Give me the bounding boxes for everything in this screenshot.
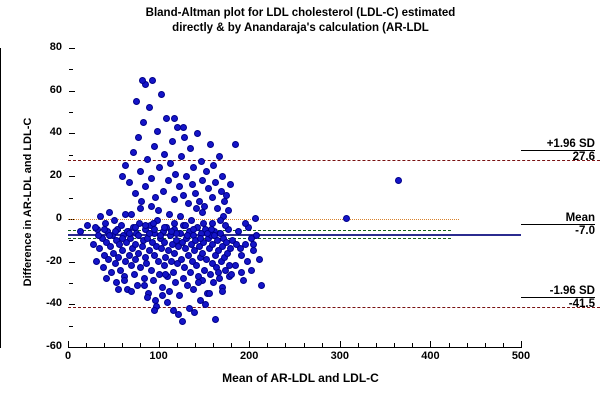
scatter-point bbox=[156, 164, 163, 171]
y-axis-title: Difference in AR-LDL and LDL-C bbox=[22, 82, 34, 322]
scatter-point bbox=[212, 316, 219, 323]
x-tick-major bbox=[430, 341, 431, 347]
x-tick-minor bbox=[322, 343, 323, 347]
scatter-point bbox=[178, 256, 185, 263]
x-tick-minor bbox=[86, 343, 87, 347]
scatter-point bbox=[176, 292, 183, 299]
scatter-point bbox=[121, 277, 128, 284]
y-axis-line bbox=[0, 48, 1, 348]
scatter-point bbox=[130, 149, 137, 156]
scatter-point bbox=[180, 124, 187, 131]
scatter-point bbox=[155, 207, 162, 214]
x-tick-minor bbox=[195, 343, 196, 347]
x-tick-label: 100 bbox=[139, 350, 179, 362]
scatter-point bbox=[106, 209, 113, 216]
scatter-point bbox=[181, 134, 188, 141]
scatter-point bbox=[128, 262, 135, 269]
scatter-point bbox=[161, 239, 168, 246]
x-tick-minor bbox=[122, 343, 123, 347]
scatter-point bbox=[144, 294, 151, 301]
scatter-point bbox=[244, 258, 251, 265]
scatter-point bbox=[248, 267, 255, 274]
y-tick-major bbox=[69, 347, 75, 348]
x-tick-minor bbox=[104, 343, 105, 347]
scatter-point bbox=[119, 235, 126, 242]
scatter-point bbox=[209, 194, 216, 201]
scatter-point bbox=[207, 271, 214, 278]
scatter-point bbox=[144, 156, 151, 163]
scatter-point bbox=[118, 222, 125, 229]
scatter-point bbox=[164, 299, 171, 306]
x-axis-title: Mean of AR-LDL and LDL-C bbox=[0, 371, 601, 385]
scatter-point bbox=[189, 181, 196, 188]
y-tick-label: 20 bbox=[28, 169, 62, 181]
scatter-point bbox=[149, 77, 156, 84]
x-tick-major bbox=[159, 341, 160, 347]
scatter-point bbox=[168, 228, 175, 235]
scatter-point bbox=[165, 177, 172, 184]
scatter-point bbox=[219, 288, 226, 295]
x-tick-major bbox=[68, 341, 69, 347]
x-tick-label: 300 bbox=[320, 350, 360, 362]
scatter-point bbox=[215, 269, 222, 276]
scatter-point bbox=[216, 275, 223, 282]
annotation-label: -1.96 SD bbox=[550, 285, 595, 297]
scatter-point bbox=[159, 284, 166, 291]
y-tick-minor bbox=[69, 326, 73, 327]
scatter-point bbox=[137, 205, 144, 212]
scatter-point bbox=[242, 220, 249, 227]
x-tick-minor bbox=[177, 343, 178, 347]
scatter-point bbox=[84, 222, 91, 229]
scatter-point bbox=[228, 271, 235, 278]
scatter-point bbox=[232, 262, 239, 269]
scatter-point bbox=[171, 220, 178, 227]
scatter-point bbox=[135, 134, 142, 141]
scatter-point bbox=[171, 250, 178, 257]
scatter-point bbox=[192, 190, 199, 197]
scatter-point bbox=[160, 188, 167, 195]
x-tick-minor bbox=[376, 343, 377, 347]
y-tick-major bbox=[69, 133, 75, 134]
scatter-point bbox=[131, 271, 138, 278]
scatter-point bbox=[240, 277, 247, 284]
scatter-point bbox=[171, 196, 178, 203]
scatter-point bbox=[146, 104, 153, 111]
annotation-label: +1.96 SD bbox=[547, 138, 595, 150]
scatter-point bbox=[180, 192, 187, 199]
scatter-point bbox=[343, 215, 350, 222]
annotation-1-96-sd: +1.96 SD27.6 bbox=[521, 138, 595, 163]
scatter-point bbox=[194, 130, 201, 137]
scatter-point bbox=[103, 275, 110, 282]
scatter-point bbox=[148, 203, 155, 210]
scatter-point bbox=[395, 177, 402, 184]
x-tick-minor bbox=[467, 343, 468, 347]
scatter-point bbox=[203, 168, 210, 175]
x-tick-minor bbox=[304, 343, 305, 347]
scatter-point bbox=[161, 151, 168, 158]
scatter-point bbox=[126, 179, 133, 186]
scatter-point bbox=[166, 211, 173, 218]
y-tick-minor bbox=[69, 240, 73, 241]
scatter-point bbox=[112, 260, 119, 267]
scatter-point bbox=[150, 277, 157, 284]
y-tick-label: 60 bbox=[28, 84, 62, 96]
scatter-point bbox=[233, 241, 240, 248]
scatter-point bbox=[205, 185, 212, 192]
y-tick-minor bbox=[69, 155, 73, 156]
scatter-point bbox=[227, 181, 234, 188]
annotation-value: -7.0 bbox=[521, 224, 595, 237]
x-tick-label: 200 bbox=[229, 350, 269, 362]
scatter-point bbox=[187, 269, 194, 276]
scatter-point bbox=[142, 183, 149, 190]
scatter-point bbox=[96, 245, 103, 252]
chart-title-line-1: Bland-Altman plot for LDL cholesterol (L… bbox=[0, 6, 601, 21]
y-tick-minor bbox=[69, 198, 73, 199]
scatter-point bbox=[190, 226, 197, 233]
scatter-point bbox=[238, 252, 245, 259]
y-tick-minor bbox=[69, 69, 73, 70]
scatter-point bbox=[122, 162, 129, 169]
scatter-point bbox=[183, 173, 190, 180]
scatter-point bbox=[158, 245, 165, 252]
scatter-point bbox=[199, 177, 206, 184]
scatter-point bbox=[148, 267, 155, 274]
x-tick-minor bbox=[285, 343, 286, 347]
scatter-point bbox=[186, 305, 193, 312]
annotation-value: 27.6 bbox=[521, 150, 595, 163]
scatter-point bbox=[238, 269, 245, 276]
chart-canvas: Bland-Altman plot for LDL cholesterol (L… bbox=[0, 0, 601, 403]
x-tick-minor bbox=[412, 343, 413, 347]
scatter-point bbox=[193, 262, 200, 269]
scatter-point bbox=[119, 173, 126, 180]
scatter-point bbox=[169, 138, 176, 145]
scatter-point bbox=[171, 115, 178, 122]
y-tick-major bbox=[69, 91, 75, 92]
scatter-point bbox=[172, 171, 179, 178]
annotation-mean: Mean-7.0 bbox=[521, 212, 595, 237]
scatter-point bbox=[198, 158, 205, 165]
annotation-label: Mean bbox=[566, 212, 595, 224]
scatter-point bbox=[250, 241, 257, 248]
scatter-point bbox=[161, 224, 168, 231]
scatter-point bbox=[170, 269, 177, 276]
scatter-point bbox=[159, 292, 166, 299]
y-tick-minor bbox=[69, 283, 73, 284]
scatter-point bbox=[212, 179, 219, 186]
scatter-point bbox=[235, 228, 242, 235]
scatter-point bbox=[225, 207, 232, 214]
scatter-point bbox=[182, 222, 189, 229]
reference-line-zero bbox=[68, 219, 459, 220]
scatter-point bbox=[100, 264, 107, 271]
x-tick-minor bbox=[394, 343, 395, 347]
scatter-point bbox=[152, 194, 159, 201]
scatter-point bbox=[92, 224, 99, 231]
scatter-point bbox=[132, 190, 139, 197]
scatter-point bbox=[197, 235, 204, 242]
scatter-point bbox=[187, 145, 194, 152]
x-tick-minor bbox=[231, 343, 232, 347]
x-tick-minor bbox=[358, 343, 359, 347]
x-tick-minor bbox=[485, 343, 486, 347]
scatter-point bbox=[172, 279, 179, 286]
x-tick-label: 500 bbox=[501, 350, 541, 362]
scatter-point bbox=[119, 247, 126, 254]
scatter-point bbox=[223, 192, 230, 199]
scatter-point bbox=[219, 173, 226, 180]
scatter-point bbox=[166, 288, 173, 295]
scatter-point bbox=[141, 282, 148, 289]
y-tick-minor bbox=[69, 112, 73, 113]
scatter-point bbox=[206, 290, 213, 297]
chart-title: Bland-Altman plot for LDL cholesterol (L… bbox=[0, 6, 601, 36]
scatter-point bbox=[258, 282, 265, 289]
scatter-point bbox=[115, 254, 122, 261]
scatter-point bbox=[108, 269, 115, 276]
y-tick-major bbox=[69, 304, 75, 305]
scatter-point bbox=[143, 260, 150, 267]
scatter-point bbox=[179, 318, 186, 325]
scatter-point bbox=[133, 98, 140, 105]
scatter-point bbox=[139, 77, 146, 84]
scatter-point bbox=[185, 200, 192, 207]
scatter-point bbox=[250, 247, 257, 254]
scatter-point bbox=[210, 162, 217, 169]
y-tick-label: 0 bbox=[28, 212, 62, 224]
scatter-point bbox=[115, 286, 122, 293]
x-tick-major bbox=[340, 341, 341, 347]
y-tick-label: -40 bbox=[28, 297, 62, 309]
scatter-point bbox=[137, 168, 144, 175]
y-tick-major bbox=[69, 176, 75, 177]
scatter-point bbox=[170, 307, 177, 314]
annotation-1-96-sd: -1.96 SD-41.5 bbox=[521, 285, 595, 310]
scatter-point bbox=[232, 141, 239, 148]
scatter-point bbox=[197, 297, 204, 304]
y-tick-label: 40 bbox=[28, 126, 62, 138]
scatter-point bbox=[195, 279, 202, 286]
scatter-point bbox=[148, 175, 155, 182]
scatter-point bbox=[132, 241, 139, 248]
scatter-point bbox=[151, 143, 158, 150]
x-tick-minor bbox=[449, 343, 450, 347]
scatter-point bbox=[139, 243, 146, 250]
scatter-point bbox=[193, 205, 200, 212]
scatter-point bbox=[207, 141, 214, 148]
x-tick-major bbox=[521, 341, 522, 347]
scatter-point bbox=[180, 275, 187, 282]
scatter-point bbox=[256, 256, 263, 263]
scatter-point bbox=[163, 115, 170, 122]
x-tick-minor bbox=[503, 343, 504, 347]
scatter-point bbox=[135, 250, 142, 257]
scatter-point bbox=[154, 128, 161, 135]
scatter-point bbox=[252, 215, 259, 222]
scatter-point bbox=[132, 256, 139, 263]
scatter-point bbox=[190, 286, 197, 293]
annotation-value: -41.5 bbox=[521, 297, 595, 310]
y-tick-label: -20 bbox=[28, 255, 62, 267]
x-tick-minor bbox=[140, 343, 141, 347]
scatter-point bbox=[128, 211, 135, 218]
scatter-point bbox=[226, 262, 233, 269]
scatter-point bbox=[214, 205, 221, 212]
scatter-point bbox=[167, 160, 174, 167]
scatter-point bbox=[151, 307, 158, 314]
x-tick-major bbox=[249, 341, 250, 347]
scatter-point bbox=[128, 288, 135, 295]
scatter-point bbox=[161, 262, 168, 269]
scatter-point bbox=[222, 222, 229, 229]
scatter-point bbox=[221, 198, 228, 205]
scatter-point bbox=[132, 224, 139, 231]
x-axis-line bbox=[68, 347, 522, 348]
y-tick-label: 80 bbox=[28, 41, 62, 53]
x-tick-minor bbox=[213, 343, 214, 347]
scatter-point bbox=[158, 91, 165, 98]
scatter-point bbox=[190, 164, 197, 171]
scatter-point bbox=[93, 258, 100, 265]
scatter-point bbox=[176, 183, 183, 190]
scatter-point bbox=[111, 217, 118, 224]
y-tick-major bbox=[69, 262, 75, 263]
scatter-point bbox=[140, 119, 147, 126]
x-tick-label: 0 bbox=[48, 350, 88, 362]
x-tick-minor bbox=[267, 343, 268, 347]
y-tick-major bbox=[69, 48, 75, 49]
x-tick-label: 400 bbox=[410, 350, 450, 362]
scatter-point bbox=[101, 226, 108, 233]
chart-title-line-2: directly & by Anandaraja's calculation (… bbox=[0, 21, 601, 36]
